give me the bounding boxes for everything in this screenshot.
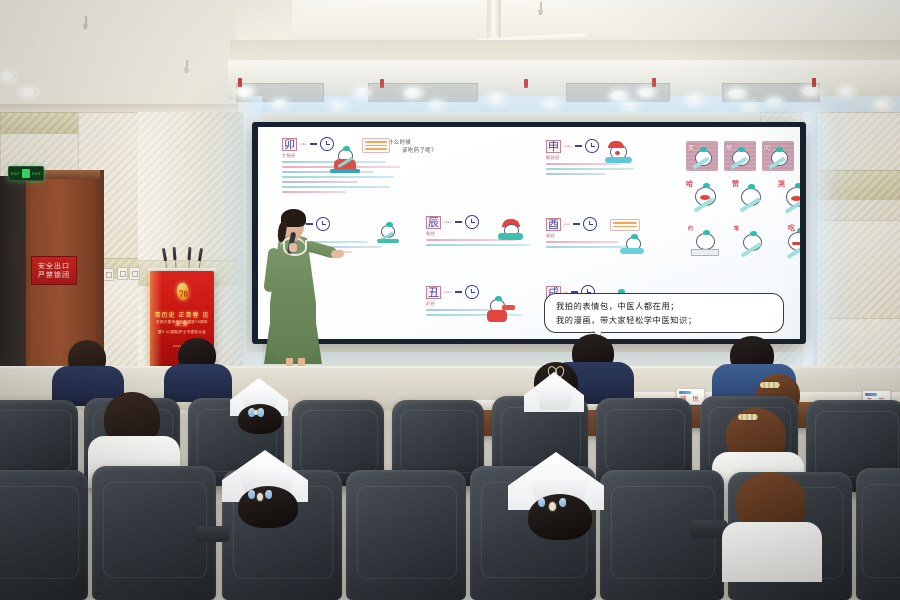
sprinkler-head xyxy=(184,67,189,72)
sticker-label: 赞 xyxy=(732,179,739,189)
door-notice-line-2: 严禁锁闭 xyxy=(38,271,70,279)
banner-subtitle-2: 暨5·12国际护士节表彰大会 xyxy=(152,330,212,335)
connector-dash xyxy=(575,145,582,146)
ceiling-downlight xyxy=(874,100,891,109)
ceiling-downlight xyxy=(686,95,704,105)
ceiling-downlight xyxy=(428,101,445,110)
bubble-line-2: 我的漫画，带大家轻松学中医知识； xyxy=(545,313,783,327)
sticker-label: 笔 xyxy=(734,225,739,232)
mascot-figure xyxy=(376,223,402,245)
wall-panel xyxy=(816,112,900,224)
sticker-label: 笑 xyxy=(688,143,694,152)
hour-character: 申 xyxy=(546,140,561,153)
sprinkler-stem xyxy=(186,60,188,67)
attendee-shoulders xyxy=(722,522,822,582)
sticker-figure: 哈 xyxy=(686,179,726,213)
wall-switch xyxy=(129,267,140,280)
bubble-line-1: 我拍的表情包，中医人都在用； xyxy=(545,294,783,313)
ceiling-downlight xyxy=(404,88,422,98)
sticker-figure: 赞 xyxy=(732,179,772,213)
sticker-label: 哈 xyxy=(686,179,693,189)
chair-armrest xyxy=(196,526,230,542)
ceiling-downlight xyxy=(542,100,559,109)
clock-icon xyxy=(465,285,479,299)
hair-clip xyxy=(760,382,780,388)
ceiling-downlight xyxy=(610,91,628,101)
sticker-figure: 吃 xyxy=(780,223,800,259)
ceiling-downlight xyxy=(766,98,783,107)
sticker-label: 哭 xyxy=(778,179,785,189)
nurse-cap-bow xyxy=(538,498,566,514)
nurse-cap-bow xyxy=(248,408,264,417)
sticker-figure: 约 xyxy=(688,225,728,259)
conference-chair[interactable] xyxy=(856,468,900,600)
wall-accent-panel xyxy=(0,112,80,134)
sticker-figure: 哭 xyxy=(778,179,800,213)
slide-speech-bubble: 我拍的表情包，中医人都在用； 我的漫画，带大家轻松学中医知识； xyxy=(544,293,784,333)
hour-note-card xyxy=(362,138,390,153)
hour-pinyin: shēn xyxy=(564,144,572,148)
clock-icon xyxy=(465,215,479,229)
sticker-label: 萌 xyxy=(726,143,732,152)
connector-dash xyxy=(455,291,462,292)
hour-character: 卯 xyxy=(282,138,297,151)
hour-title: 肝经 xyxy=(426,301,536,307)
sticker-card: 笑 xyxy=(686,141,718,171)
ceiling-downlight xyxy=(488,94,506,104)
projection-screen[interactable]: 什么时候 该吃药了呢？ 卯 mǎo 大肠经 xyxy=(258,127,800,339)
ceiling-downlight xyxy=(638,88,655,97)
anniversary-emblem: 70 xyxy=(173,283,193,303)
ceiling-downlight xyxy=(272,100,288,109)
clock-icon xyxy=(583,217,597,231)
banner-subtitle-1: 庆祝兴泰市中医院建院70周年 xyxy=(152,320,212,325)
fire-alarm-indicator xyxy=(652,78,656,87)
hour-pinyin: mǎo xyxy=(300,142,307,146)
mascot-figure xyxy=(484,297,516,325)
ceiling-downlight xyxy=(0,72,16,81)
exit-sign-label-left: EXIT xyxy=(9,172,22,176)
ceiling-downlight xyxy=(728,89,746,99)
hair-clip xyxy=(738,414,758,420)
sprinkler-stem xyxy=(85,16,87,23)
door-notice-sign: 安全出口 严禁锁闭 xyxy=(31,256,77,285)
exit-sign-label-right: EXIT xyxy=(30,172,43,176)
sticker-card: 萌 xyxy=(724,141,756,171)
sprinkler-stem xyxy=(540,2,542,9)
hour-pinyin: yǒu xyxy=(564,222,570,226)
emergency-exit-sign: EXIT EXIT xyxy=(8,166,44,181)
fire-alarm-indicator xyxy=(238,78,242,87)
banner-headline: 青历史 正青春 见未来 xyxy=(152,310,212,328)
ceiling-downlight xyxy=(802,86,820,96)
ceiling-upper-slab xyxy=(292,0,900,42)
speaker-left-hand xyxy=(289,243,297,252)
hour-note-card xyxy=(610,219,640,231)
conference-chair[interactable] xyxy=(0,470,88,600)
exit-door-gap xyxy=(0,176,26,390)
fire-alarm-indicator xyxy=(380,79,384,88)
wall-panel xyxy=(816,220,900,322)
sticker-figure: 笔 xyxy=(734,225,774,259)
connector-dash xyxy=(306,223,313,224)
hour-character: 辰 xyxy=(426,216,441,229)
attendee-shoulders xyxy=(164,364,232,402)
wall-switch xyxy=(117,267,128,280)
hour-pinyin: chén xyxy=(444,220,452,224)
door-notice-line-1: 安全出口 xyxy=(38,262,70,270)
air-vent xyxy=(368,83,478,102)
sticker-label: 约 xyxy=(688,225,693,232)
running-man-icon xyxy=(22,169,30,178)
ceiling-downlight xyxy=(622,102,639,111)
mascot-figure xyxy=(618,235,648,259)
fire-alarm-indicator xyxy=(812,78,816,87)
emblem-number: 70 xyxy=(179,289,188,299)
ceiling-downlight xyxy=(838,87,855,96)
ceiling-downlight xyxy=(354,88,370,97)
clock-icon xyxy=(316,217,330,231)
connector-dash xyxy=(455,221,462,222)
sticker-label: 问 xyxy=(764,143,770,152)
hour-body-lines xyxy=(426,309,536,316)
conference-chair[interactable] xyxy=(346,470,466,600)
hour-character: 酉 xyxy=(546,218,561,231)
connector-dash xyxy=(573,223,580,224)
mascot-figure xyxy=(496,219,526,243)
wall-socket xyxy=(103,268,114,281)
connector-dash xyxy=(310,143,317,144)
wall-accent-panel xyxy=(816,170,900,200)
fire-alarm-indicator xyxy=(524,79,528,88)
slide-content: 什么时候 该吃药了呢？ 卯 mǎo 大肠经 xyxy=(258,127,800,339)
nurse-cap-bow xyxy=(248,490,272,504)
ceiling-downlight xyxy=(330,102,347,111)
mascot-figure xyxy=(602,141,636,167)
hour-character: 丑 xyxy=(426,286,441,299)
clock-icon xyxy=(585,139,599,153)
ceiling-downlight xyxy=(742,103,759,112)
sprinkler-head xyxy=(538,9,543,14)
hour-header: 丑 chǒu xyxy=(426,285,536,299)
sticker-card: 问 xyxy=(762,141,794,171)
sticker-label: 吃 xyxy=(788,223,795,233)
hour-pinyin: chǒu xyxy=(444,290,452,294)
ceiling-downlight xyxy=(20,88,37,97)
conference-hall-scene: EXIT EXIT 安全出口 严禁锁闭 什么时候 该吃药了呢？ 卯 mǎo xyxy=(0,0,900,600)
tcm-hour-block: 丑 chǒu 肝经 xyxy=(426,285,536,319)
sprinkler-head xyxy=(83,23,88,28)
mascot-figure xyxy=(328,149,362,175)
